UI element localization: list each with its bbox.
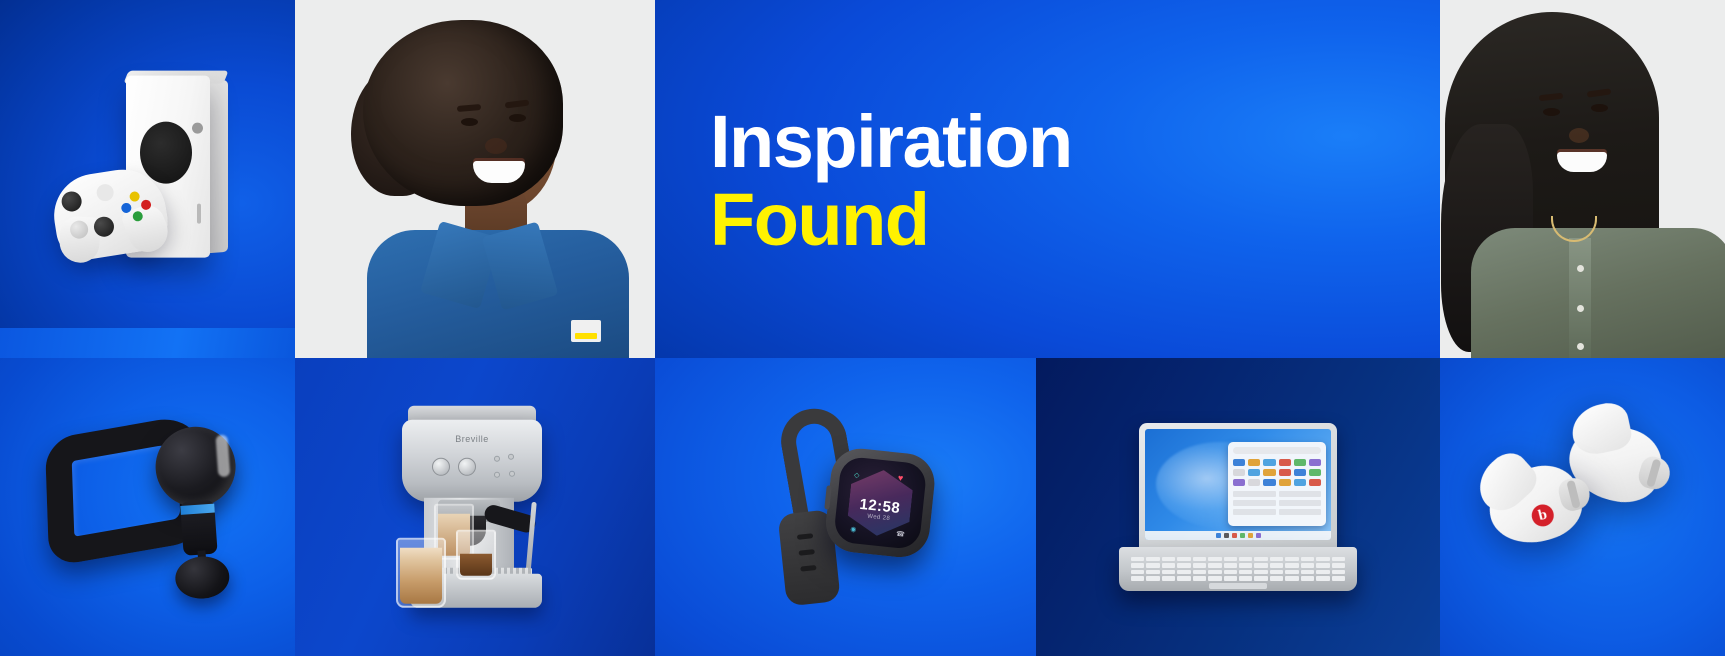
latte-glass-icon [396,538,446,608]
promotional-banner: Inspiration Found [0,0,1725,656]
massage-gun-icon [41,401,254,604]
customer-portrait-panel[interactable] [1440,0,1725,358]
massage-gun-panel[interactable] [0,358,295,656]
smartwatch-panel[interactable]: ♥ ◇ ◉ ☎ 12:58 Wed 28 [655,358,1036,656]
headline-block: Inspiration Found [710,108,1072,254]
espresso-machine-icon: Breville [380,406,570,626]
espresso-brand-label: Breville [402,434,542,444]
person-portrait-icon [1440,4,1725,358]
beats-logo-icon: b [1529,502,1556,529]
laptop-panel[interactable] [1036,358,1440,656]
employee-portrait-panel[interactable] [295,0,655,358]
earbuds-panel[interactable]: b [1440,358,1725,656]
game-console-icon [38,54,258,284]
laptop-icon [1113,423,1363,603]
earbuds-icon: b [1483,422,1683,592]
headline-line-2: Found [710,186,1072,254]
espresso-machine-panel[interactable]: Breville [295,358,655,656]
hero-headline-panel: Inspiration Found [655,0,1440,358]
windows-start-menu-icon [1228,442,1326,526]
headline-line-1: Inspiration [710,108,1072,176]
smartwatch-icon: ♥ ◇ ◉ ☎ 12:58 Wed 28 [737,402,947,621]
xbox-panel-lower-band [0,328,295,358]
employee-badge-icon [571,320,601,342]
xbox-series-s-panel[interactable] [0,0,295,328]
person-portrait-icon [333,6,633,358]
